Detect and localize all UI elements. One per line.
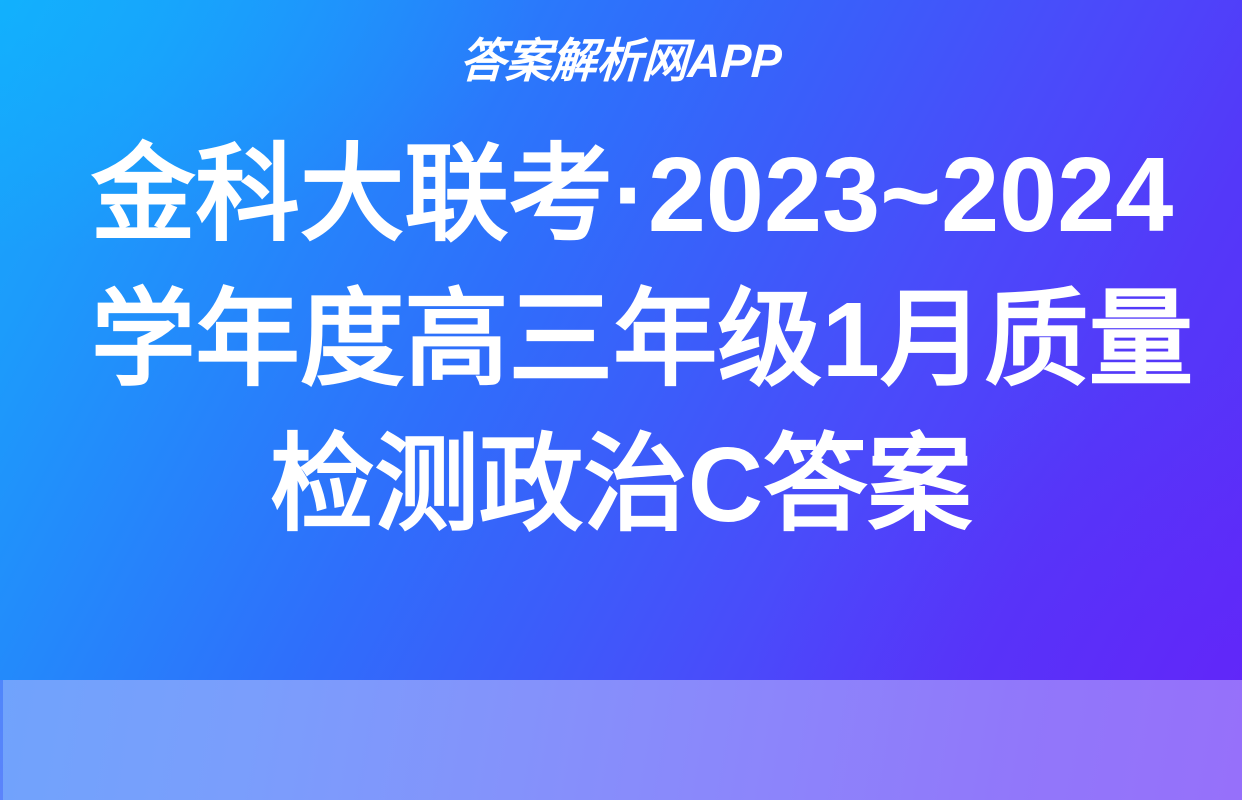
title-line-3: 检测政治C答案 [99, 413, 1143, 558]
title-line-1: 金科大联考·2023~2024 [91, 123, 1135, 268]
title-line-2: 学年度高三年级1月质量 [91, 268, 1135, 413]
footer-watermark-content: 答案解析网APP [0, 0, 1242, 120]
footer-watermark-band [0, 680, 1242, 800]
footer-left-edge-strip [0, 680, 3, 800]
headline-inner: 金科大联考·2023~2024 学年度高三年级1月质量 检测政治C答案 [91, 123, 1151, 558]
watermark-label: 答案解析网APP [459, 37, 783, 84]
poster-root: 金科大联考·2023~2024 学年度高三年级1月质量 检测政治C答案 答案解析… [0, 0, 1242, 800]
